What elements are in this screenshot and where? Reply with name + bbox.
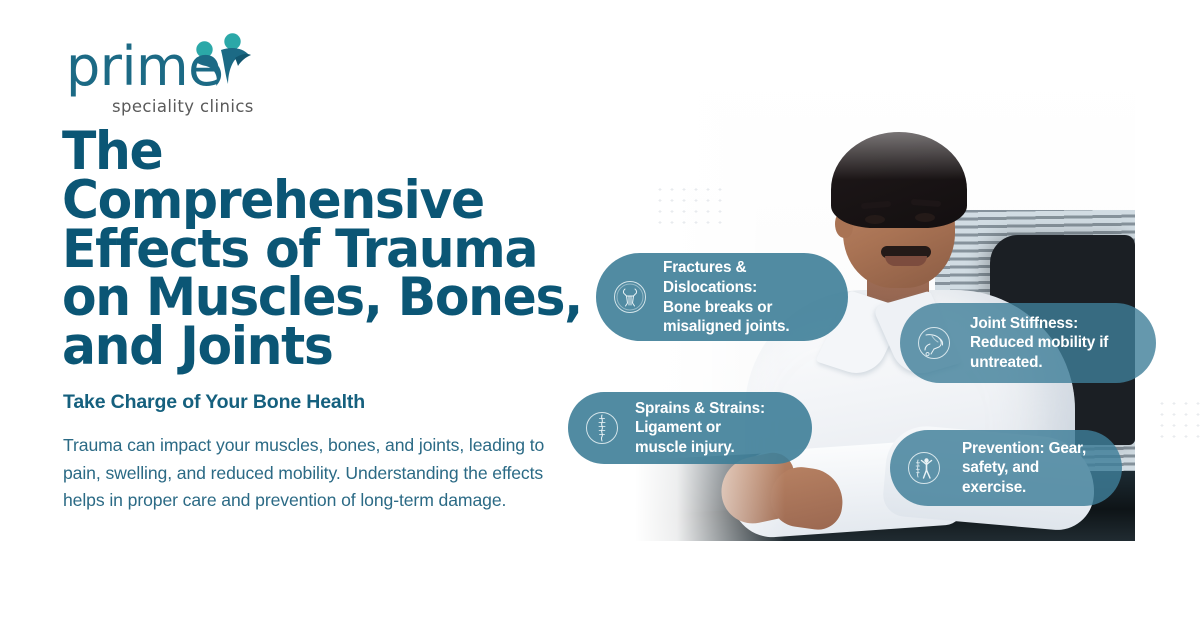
logo-tagline: speciality clinics <box>112 98 254 116</box>
callout-joint-stiffness-label: Joint Stiffness: Reduced mobility if unt… <box>970 314 1108 373</box>
person-mouth <box>885 256 927 266</box>
brand-logo[interactable]: prime speciality clinics <box>66 26 316 112</box>
logo-wordmark: prime <box>66 40 221 94</box>
person-eye-left <box>865 215 885 224</box>
callout-fractures-label: Fractures & Dislocations: Bone breaks or… <box>663 257 790 336</box>
dot-grid-pattern-right <box>1156 398 1200 438</box>
person-eye-right <box>915 213 935 222</box>
callout-joint-stiffness[interactable]: Joint Stiffness: Reduced mobility if unt… <box>900 303 1156 383</box>
spine-icon <box>582 408 622 448</box>
callout-prevention-label: Prevention: Gear, safety, and exercise. <box>962 439 1086 498</box>
body-paragraph: Trauma can impact your muscles, bones, a… <box>63 432 568 515</box>
callout-sprains-label: Sprains & Strains: Ligament or muscle in… <box>635 399 765 458</box>
dot-grid-pattern-left <box>654 184 726 230</box>
callout-prevention[interactable]: Prevention: Gear, safety, and exercise. <box>890 430 1122 506</box>
callout-sprains[interactable]: Sprains & Strains: Ligament or muscle in… <box>568 392 812 464</box>
marketing-banner: prime speciality clinics The Comprehensi… <box>0 0 1200 628</box>
page-title: The Comprehensive Effects of Trauma on M… <box>62 128 594 372</box>
bone-fracture-icon <box>610 277 650 317</box>
callout-fractures[interactable]: Fractures & Dislocations: Bone breaks or… <box>596 253 848 341</box>
knee-joint-icon <box>914 323 954 363</box>
active-person-spine-icon <box>904 448 944 488</box>
subheading: Take Charge of Your Bone Health <box>63 390 365 414</box>
